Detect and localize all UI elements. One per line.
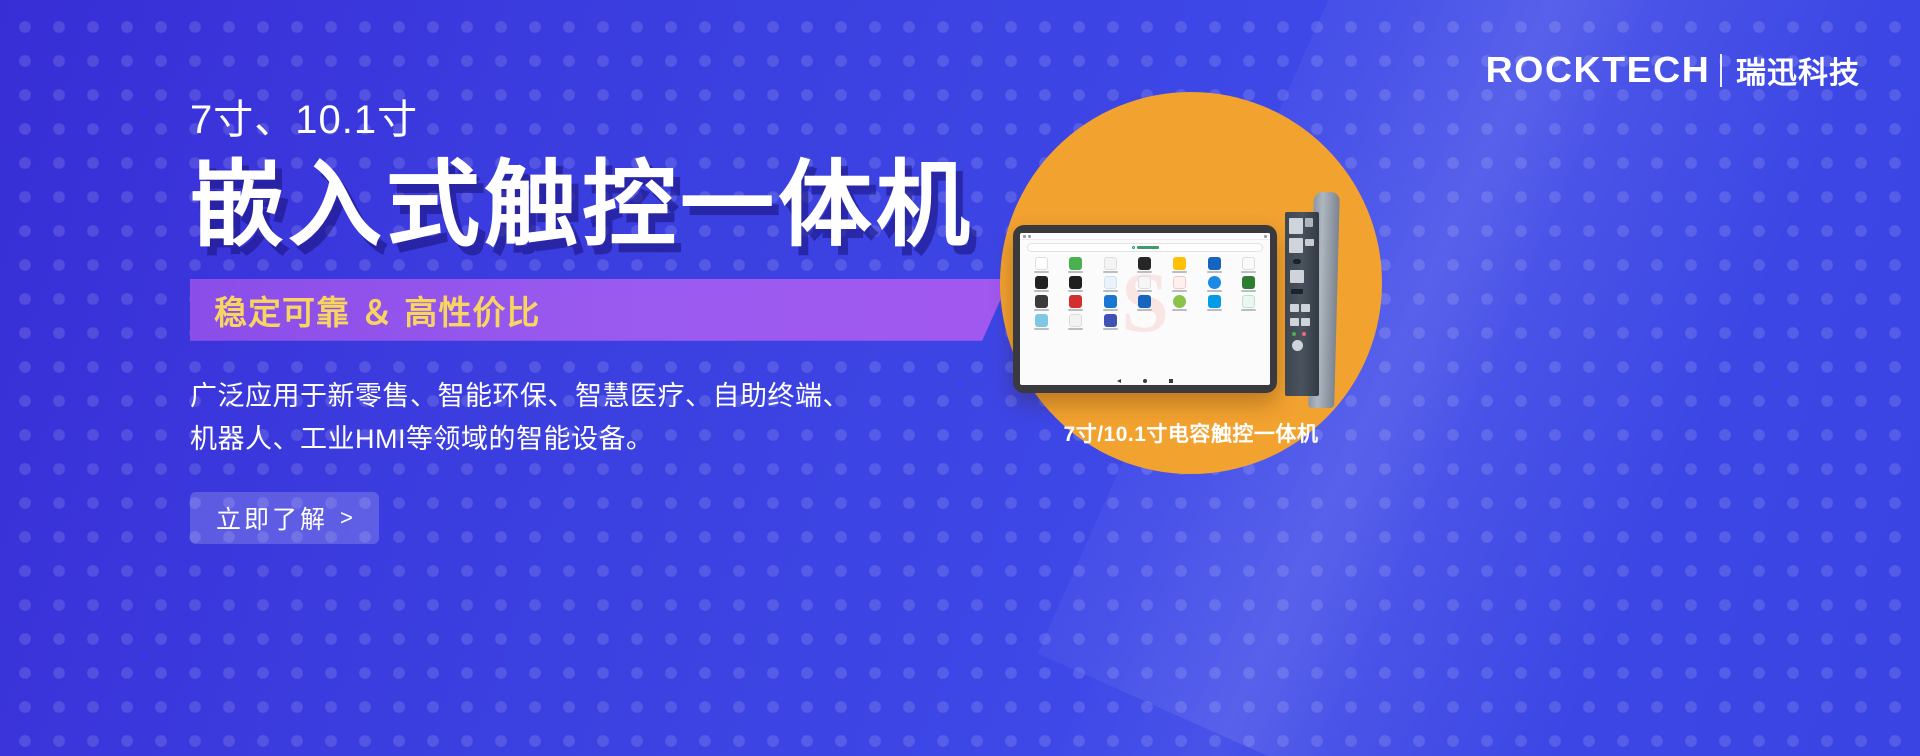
app-icon	[1198, 295, 1231, 311]
sync-icon	[1242, 295, 1255, 308]
brand-logo-cn: 瑞迅科技	[1736, 48, 1860, 92]
gallery-icon	[1035, 314, 1048, 327]
hero-headline: 嵌入式触控一体机	[190, 156, 1010, 255]
package-icon	[1069, 257, 1082, 270]
usb-a-port	[1290, 318, 1299, 326]
product-side-io	[1277, 198, 1343, 408]
gear-icon	[1242, 276, 1255, 289]
notes-icon	[1104, 314, 1117, 327]
tool-icon	[1242, 257, 1255, 270]
app-icon	[1163, 257, 1196, 273]
hdmi-port	[1291, 289, 1303, 294]
app-icon	[1060, 314, 1093, 330]
usb-a-port	[1301, 304, 1310, 312]
hero-description-line-2: 机器人、工业HMI等领域的智能设备。	[190, 418, 1010, 462]
usb-a-port	[1290, 304, 1299, 312]
app-icon	[1232, 295, 1265, 311]
app-icon	[1094, 295, 1127, 311]
app-icon	[1163, 276, 1196, 292]
status-dot-icon	[1023, 235, 1026, 238]
app-icon	[1060, 276, 1093, 292]
app-icon	[1232, 276, 1265, 292]
person-icon	[1035, 276, 1048, 289]
display-icon	[1138, 295, 1151, 308]
keyboard-icon	[1104, 257, 1117, 270]
app-icon	[1025, 295, 1058, 311]
brand-logo-en: ROCKTECH	[1486, 49, 1711, 91]
location-icon	[1208, 257, 1221, 270]
io-port-panel	[1285, 212, 1319, 396]
screen-app-grid	[1020, 256, 1270, 331]
power-dc-jack	[1292, 340, 1303, 351]
recents-icon[interactable]	[1169, 379, 1173, 383]
app-icon	[1129, 257, 1162, 273]
status-dot-icon	[1028, 235, 1031, 238]
hero-feature-tag: 稳定可靠 ＆ 高性价比	[190, 279, 1010, 341]
learn-more-button[interactable]: 立即了解 >	[190, 492, 379, 544]
brand-logo[interactable]: ROCKTECH 瑞迅科技	[1490, 48, 1860, 92]
app-icon	[1163, 295, 1196, 311]
audio-out-jack	[1292, 332, 1296, 336]
pin-icon	[1138, 276, 1151, 289]
chart-icon	[1173, 276, 1186, 289]
hero-feature-tag-label: 稳定可靠 ＆ 高性价比	[214, 286, 540, 334]
usb-c-port	[1293, 259, 1301, 264]
product-caption: 7寸/10.1寸电容触控一体机	[1000, 418, 1382, 448]
user-icon	[1069, 314, 1082, 327]
briefcase-icon	[1035, 295, 1048, 308]
usb-a-port	[1301, 318, 1310, 326]
mail-icon	[1173, 257, 1186, 270]
browser-icon	[1173, 295, 1186, 308]
folder-icon	[1104, 295, 1117, 308]
screen-status-bar	[1020, 233, 1270, 240]
play-icon	[1208, 276, 1221, 289]
wifi-icon	[1208, 295, 1221, 308]
product-tablet: S	[1013, 225, 1277, 393]
app-icon	[1232, 257, 1265, 273]
app-icon	[1129, 295, 1162, 311]
microphone-jack	[1302, 332, 1306, 336]
hero-description-line-1: 广泛应用于新零售、智能环保、智慧医疗、自助终端、	[190, 375, 1010, 419]
ethernet-rj45-port	[1290, 270, 1304, 283]
status-battery-icon	[1264, 235, 1267, 238]
app-icon	[1094, 257, 1127, 273]
app-icon	[1094, 276, 1127, 292]
app-icon	[1060, 257, 1093, 273]
search-icon	[1132, 246, 1135, 249]
app-icon	[1198, 257, 1231, 273]
cloud-icon	[1104, 276, 1117, 289]
app-icon	[1060, 295, 1093, 311]
hero-eyebrow: 7寸、10.1寸	[190, 96, 1010, 144]
app-icon	[1094, 314, 1127, 330]
contact-icon	[1138, 257, 1151, 270]
chevron-right-icon: >	[340, 505, 353, 531]
tablet-screen: S	[1020, 233, 1270, 385]
sd-card-port	[1305, 218, 1313, 227]
settings-icon	[1035, 257, 1048, 270]
hero-description: 广泛应用于新零售、智能环保、智慧医疗、自助终端、 机器人、工业HMI等领域的智能…	[190, 375, 1010, 462]
screen-search-bar	[1027, 243, 1263, 252]
app-icon	[1025, 276, 1058, 292]
promo-banner: ROCKTECH 瑞迅科技 7寸、10.1寸 嵌入式触控一体机 稳定可靠 ＆ 高…	[0, 0, 1920, 756]
app-icon	[1198, 276, 1231, 292]
home-icon[interactable]	[1143, 379, 1147, 383]
learn-more-label: 立即了解	[216, 500, 328, 536]
back-icon[interactable]	[1117, 379, 1121, 383]
screen-nav-bar	[1020, 379, 1270, 383]
hero-copy: 7寸、10.1寸 嵌入式触控一体机 稳定可靠 ＆ 高性价比 广泛应用于新零售、智…	[190, 96, 1010, 544]
pin-header-port	[1305, 239, 1314, 246]
download-icon	[1069, 295, 1082, 308]
app-icon	[1025, 257, 1058, 273]
person-icon	[1069, 276, 1082, 289]
sim-slot-port	[1289, 218, 1303, 234]
app-icon	[1129, 276, 1162, 292]
app-icon	[1025, 314, 1058, 330]
brand-logo-divider	[1720, 54, 1722, 87]
expansion-port	[1289, 238, 1303, 253]
